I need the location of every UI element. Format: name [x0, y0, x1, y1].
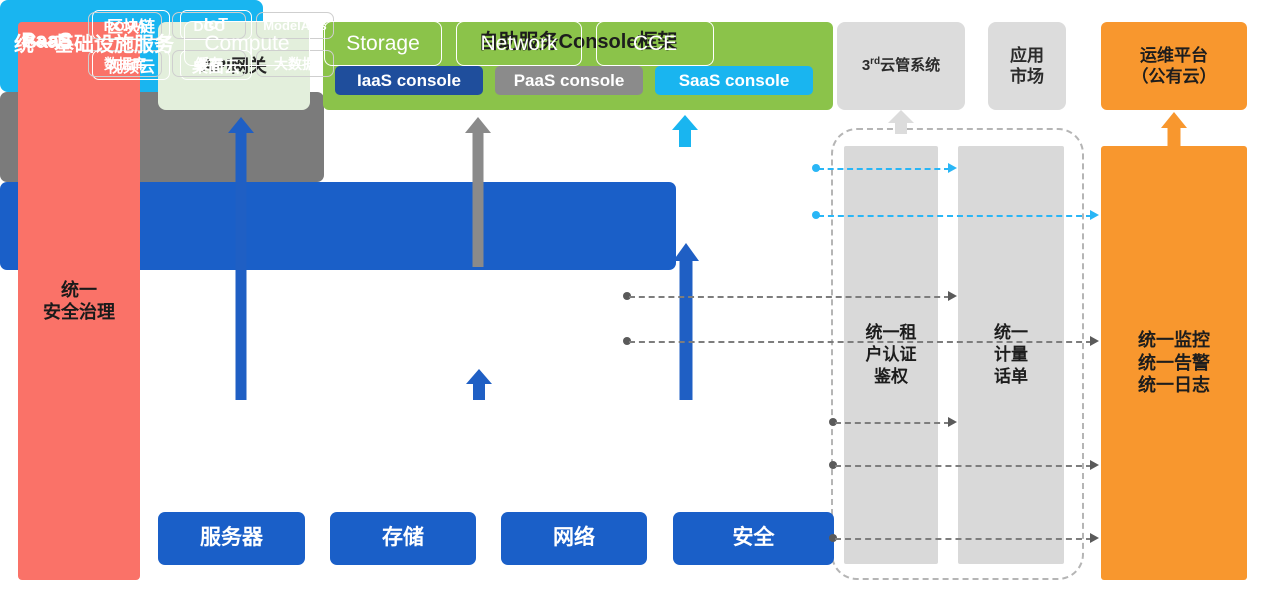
unified-metering-billing-column: 统一 计量 话单 [958, 146, 1064, 564]
unified-monitoring-label: 统一监控 统一告警 统一日志 [1138, 329, 1210, 397]
infra-service-network-label: Network [480, 32, 557, 56]
connector-arrowhead-paas-auth [948, 291, 957, 301]
arrow-up-infra-to-paas [466, 369, 492, 400]
hardware-box-storage-label: 存储 [382, 525, 424, 551]
unified-monitoring-panel: 统一监控 统一告警 统一日志 [1101, 146, 1247, 580]
connector-arrowhead-hardware-ops [1090, 533, 1099, 543]
iaas-console-pill[interactable]: IaaS console [335, 66, 483, 95]
infra-service-storage-label: Storage [346, 32, 420, 56]
paas-console-label: PaaS console [514, 70, 625, 91]
connector-line-infra-ops [835, 465, 1092, 467]
app-market-label: 应用 市场 [1010, 45, 1044, 88]
app-market-box: 应用 市场 [988, 22, 1066, 110]
third-party-cloud-management-box: 3rd云管系统 [837, 22, 965, 110]
connector-arrowhead-saas-ops [1090, 210, 1099, 220]
infra-service-compute[interactable]: Compute [184, 21, 310, 66]
connector-arrowhead-infra-auth [948, 417, 957, 427]
saas-console-label: SaaS console [679, 70, 790, 91]
hardware-box-security: 安全 [673, 512, 834, 565]
hardware-box-network: 网络 [501, 512, 647, 565]
infra-service-cce-label: CCE [633, 32, 677, 56]
unified-security-governance-label: 统一 安全治理 [43, 279, 115, 324]
arrow-up-infra-to-saas [673, 243, 699, 400]
connector-arrowhead-saas-auth [948, 163, 957, 173]
connector-arrowhead-paas-ops [1090, 336, 1099, 346]
iaas-console-label: IaaS console [357, 70, 461, 91]
hardware-box-server: 服务器 [158, 512, 305, 565]
connector-line-paas-auth [629, 296, 950, 298]
hardware-box-network-label: 网络 [553, 525, 595, 551]
hardware-box-security-label: 安全 [733, 525, 775, 551]
arrow-up-saas-to-console [672, 115, 698, 147]
infra-service-storage[interactable]: Storage [324, 21, 442, 66]
paas-console-pill[interactable]: PaaS console [495, 66, 643, 95]
arrow-up-to-third-party-cloud [888, 110, 914, 134]
infra-service-cce[interactable]: CCE [596, 21, 714, 66]
connector-line-paas-ops [629, 341, 1092, 343]
arrow-up-to-ops-platform [1161, 112, 1187, 146]
saas-console-pill[interactable]: SaaS console [655, 66, 813, 95]
connector-line-saas-auth [818, 168, 950, 170]
hardware-box-server-label: 服务器 [200, 525, 263, 551]
infra-service-network[interactable]: Network [456, 21, 582, 66]
unified-tenant-auth-column: 统一租 户认证 鉴权 [844, 146, 938, 564]
connector-line-saas-ops [818, 215, 1092, 217]
connector-line-hardware-ops [835, 538, 1092, 540]
connector-arrowhead-infra-ops [1090, 460, 1099, 470]
ops-platform-public-cloud-box: 运维平台 （公有云） [1101, 22, 1247, 110]
architecture-diagram: 统一 安全治理 API网关 自助服务Console框架 IaaS console… [0, 0, 1265, 605]
unified-security-governance-panel: 统一 安全治理 [18, 22, 140, 580]
connector-line-infra-auth [835, 422, 950, 424]
unified-tenant-auth-label: 统一租 户认证 鉴权 [866, 322, 917, 388]
ops-platform-label: 运维平台 （公有云） [1132, 45, 1217, 88]
infra-service-compute-label: Compute [204, 32, 289, 56]
third-party-cloud-management-label: 3rd云管系统 [862, 56, 940, 76]
arrow-up-paas-to-console [465, 117, 491, 267]
hardware-box-storage: 存储 [330, 512, 476, 565]
arrow-up-infra-to-api-gateway [228, 117, 254, 400]
unified-infrastructure-service-label: 统一基础设施服务 [14, 28, 174, 57]
unified-metering-billing-label: 统一 计量 话单 [994, 322, 1028, 388]
